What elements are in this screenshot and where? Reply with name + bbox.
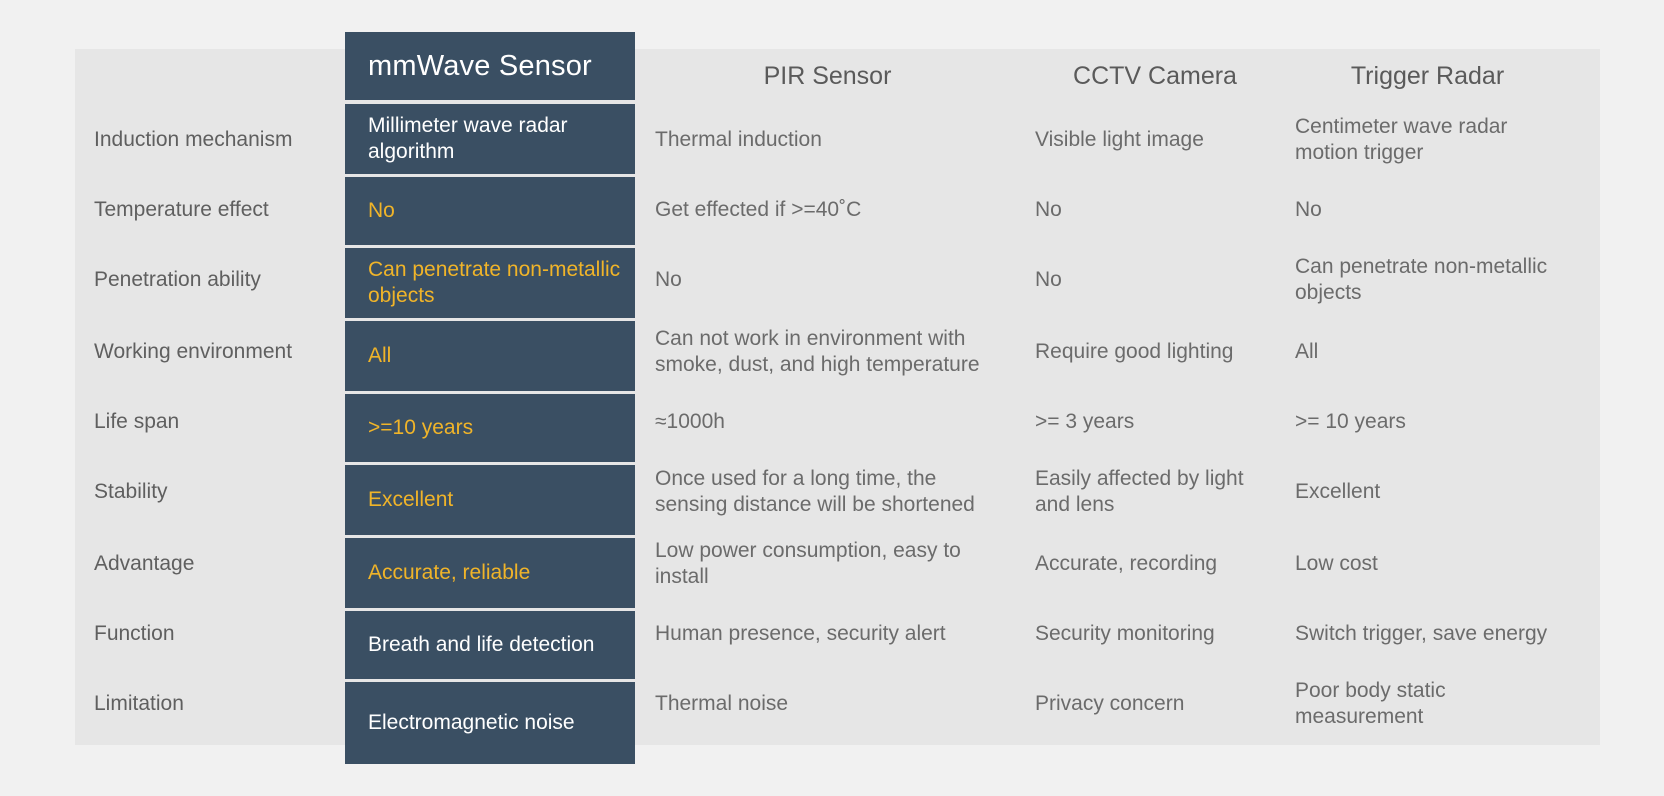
column-pir-sensor: PIR Sensor Thermal induction Get effecte… <box>655 49 1000 740</box>
table-cell: Low power consumption, easy to install <box>655 528 1000 600</box>
highlight-cell: Can penetrate non-metallic objects <box>345 248 635 318</box>
column-header-cctv-camera: CCTV Camera <box>1035 49 1275 104</box>
comparison-table-page: Induction mechanism Temperature effect P… <box>0 0 1664 796</box>
table-cell: Centimeter wave radar motion trigger <box>1295 104 1560 176</box>
row-label: Advantage <box>75 528 345 600</box>
row-label: Working environment <box>75 316 345 388</box>
row-label-text: Advantage <box>94 551 194 577</box>
highlight-cell-text: Accurate, reliable <box>345 560 544 586</box>
table-cell: Low cost <box>1295 528 1560 600</box>
highlight-cell-text: Millimeter wave radar algorithm <box>345 113 635 165</box>
highlight-cell: All <box>345 321 635 391</box>
row-label: Life span <box>75 388 345 456</box>
row-label-column: Induction mechanism Temperature effect P… <box>75 49 345 740</box>
column-cctv-camera: CCTV Camera Visible light image No No Re… <box>1035 49 1275 740</box>
table-cell: Easily affected by light and lens <box>1035 456 1275 528</box>
highlight-cell-text: Excellent <box>345 487 467 513</box>
column-trigger-radar: Trigger Radar Centimeter wave radar moti… <box>1295 49 1560 740</box>
table-cell: Privacy concern <box>1035 668 1275 740</box>
row-label-text: Penetration ability <box>94 267 261 293</box>
table-cell: Accurate, recording <box>1035 528 1275 600</box>
table-cell: Switch trigger, save energy <box>1295 600 1560 668</box>
row-label-text: Induction mechanism <box>94 127 292 153</box>
highlight-cell-text: >=10 years <box>345 415 487 441</box>
table-cell: No <box>1295 176 1560 244</box>
column-header-mmwave-sensor-text: mmWave Sensor <box>345 50 592 83</box>
highlight-cell-text: Breath and life detection <box>345 632 609 658</box>
highlight-cell-text: All <box>345 343 405 369</box>
table-cell: No <box>1035 176 1275 244</box>
row-label-text: Stability <box>94 479 168 505</box>
table-cell: Excellent <box>1295 456 1560 528</box>
row-label: Induction mechanism <box>75 104 345 176</box>
table-cell: Security monitoring <box>1035 600 1275 668</box>
row-label: Temperature effect <box>75 176 345 244</box>
highlight-cell: No <box>345 177 635 245</box>
table-cell: Thermal induction <box>655 104 1000 176</box>
highlight-cell: Millimeter wave radar algorithm <box>345 104 635 174</box>
table-cell: No <box>655 244 1000 316</box>
column-mmwave-sensor-highlighted: mmWave Sensor Millimeter wave radar algo… <box>345 32 635 764</box>
row-label-text: Limitation <box>94 691 184 717</box>
table-cell: Can not work in environment with smoke, … <box>655 316 1000 388</box>
highlight-cell: >=10 years <box>345 394 635 462</box>
column-header-pir-sensor: PIR Sensor <box>655 49 1000 104</box>
row-label-text: Life span <box>94 409 179 435</box>
row-label: Limitation <box>75 668 345 740</box>
table-cell: >= 3 years <box>1035 388 1275 456</box>
column-header-trigger-radar: Trigger Radar <box>1295 49 1560 104</box>
highlight-cell: Breath and life detection <box>345 611 635 679</box>
row-label: Function <box>75 600 345 668</box>
table-cell: Visible light image <box>1035 104 1275 176</box>
table-cell: Human presence, security alert <box>655 600 1000 668</box>
highlight-cell-text: No <box>345 198 409 224</box>
table-cell: Once used for a long time, the sensing d… <box>655 456 1000 528</box>
table-cell: Require good lighting <box>1035 316 1275 388</box>
row-label: Stability <box>75 456 345 528</box>
row-label-text: Temperature effect <box>94 197 269 223</box>
table-cell: Can penetrate non-metallic objects <box>1295 244 1560 316</box>
highlight-cell: Excellent <box>345 465 635 535</box>
highlight-cell: Accurate, reliable <box>345 538 635 608</box>
highlight-cell-text: Can penetrate non-metallic objects <box>345 257 635 309</box>
highlight-cell-text: Electromagnetic noise <box>345 710 589 736</box>
table-cell: >= 10 years <box>1295 388 1560 456</box>
table-cell: Poor body static measurement <box>1295 668 1560 740</box>
row-label-text: Working environment <box>94 339 292 365</box>
highlight-cell: Electromagnetic noise <box>345 682 635 764</box>
row-label-text: Function <box>94 621 175 647</box>
table-cell: Get effected if >=40˚C <box>655 176 1000 244</box>
table-cell: Thermal noise <box>655 668 1000 740</box>
table-cell: All <box>1295 316 1560 388</box>
table-cell: No <box>1035 244 1275 316</box>
column-header-mmwave-sensor: mmWave Sensor <box>345 32 635 100</box>
table-cell: ≈1000h <box>655 388 1000 456</box>
row-label: Penetration ability <box>75 244 345 316</box>
